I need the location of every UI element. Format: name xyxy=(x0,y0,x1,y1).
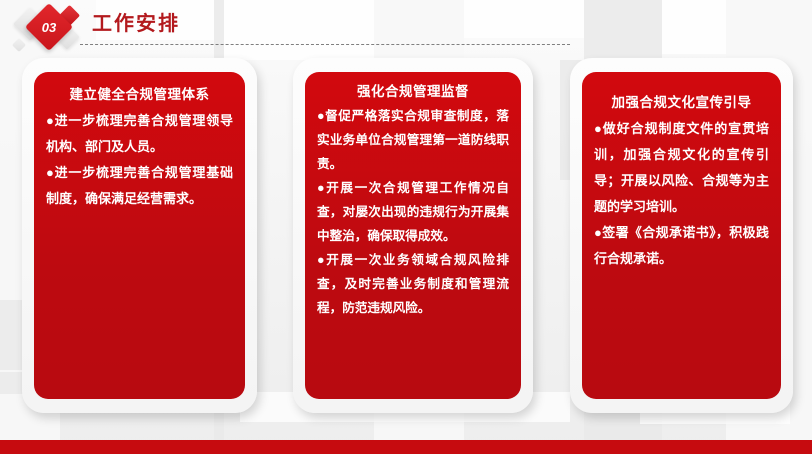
card-body: ●做好合规制度文件的宣贯培训，加强合规文化的宣传引导；开展以风险、合规等为主题的… xyxy=(594,116,769,272)
section-number: 03 xyxy=(32,10,66,44)
footer-bar xyxy=(0,440,812,454)
card-body: ●进一步梳理完善合规管理领导机构、部门及人员。 ●进一步梳理完善合规管理基础制度… xyxy=(46,108,233,212)
card-title: 加强合规文化宣传引导 xyxy=(594,90,769,116)
card-inner-panel: 加强合规文化宣传引导 ●做好合规制度文件的宣贯培训，加强合规文化的宣传引导；开展… xyxy=(582,72,781,399)
card-container: 建立健全合规管理体系 ●进一步梳理完善合规管理领导机构、部门及人员。 ●进一步梳… xyxy=(0,58,812,418)
card-title: 建立健全合规管理体系 xyxy=(46,82,233,108)
content-card-2[interactable]: 强化合规管理监督 ●督促严格落实合规审查制度，落实业务单位合规管理第一道防线职责… xyxy=(293,58,533,413)
card-title: 强化合规管理监督 xyxy=(317,80,509,104)
card-paragraph: ●做好合规制度文件的宣贯培训，加强合规文化的宣传引导；开展以风险、合规等为主题的… xyxy=(594,116,769,220)
content-card-3[interactable]: 加强合规文化宣传引导 ●做好合规制度文件的宣贯培训，加强合规文化的宣传引导；开展… xyxy=(570,58,793,413)
card-paragraph: ●开展一次业务领域合规风险排查，及时完善业务制度和管理流程，防范违规风险。 xyxy=(317,248,509,320)
page-title: 工作安排 xyxy=(92,11,180,37)
card-paragraph: ●进一步梳理完善合规管理基础制度，确保满足经营需求。 xyxy=(46,160,233,212)
card-paragraph: ●签署《合规承诺书》，积极践行合规承诺。 xyxy=(594,220,769,272)
card-body: ●督促严格落实合规审查制度，落实业务单位合规管理第一道防线职责。 ●开展一次合规… xyxy=(317,104,509,320)
slide-canvas: 03 工作安排 建立健全合规管理体系 ●进一步梳理完善合规管理领导机构、部门及人… xyxy=(0,0,812,454)
card-paragraph: ●进一步梳理完善合规管理领导机构、部门及人员。 xyxy=(46,108,233,160)
card-inner-panel: 强化合规管理监督 ●督促严格落实合规审查制度，落实业务单位合规管理第一道防线职责… xyxy=(305,72,521,399)
card-paragraph: ●开展一次合规管理工作情况自查，对屡次出现的违规行为开展集中整治，确保取得成效。 xyxy=(317,176,509,248)
section-badge: 03 xyxy=(8,2,94,58)
diamond-decoration-icon xyxy=(12,38,26,52)
slide-header: 03 工作安排 xyxy=(0,0,812,58)
card-paragraph: ●督促严格落实合规审查制度，落实业务单位合规管理第一道防线职责。 xyxy=(317,104,509,176)
header-divider xyxy=(80,44,570,45)
content-card-1[interactable]: 建立健全合规管理体系 ●进一步梳理完善合规管理领导机构、部门及人员。 ●进一步梳… xyxy=(22,58,257,413)
card-inner-panel: 建立健全合规管理体系 ●进一步梳理完善合规管理领导机构、部门及人员。 ●进一步梳… xyxy=(34,72,245,399)
